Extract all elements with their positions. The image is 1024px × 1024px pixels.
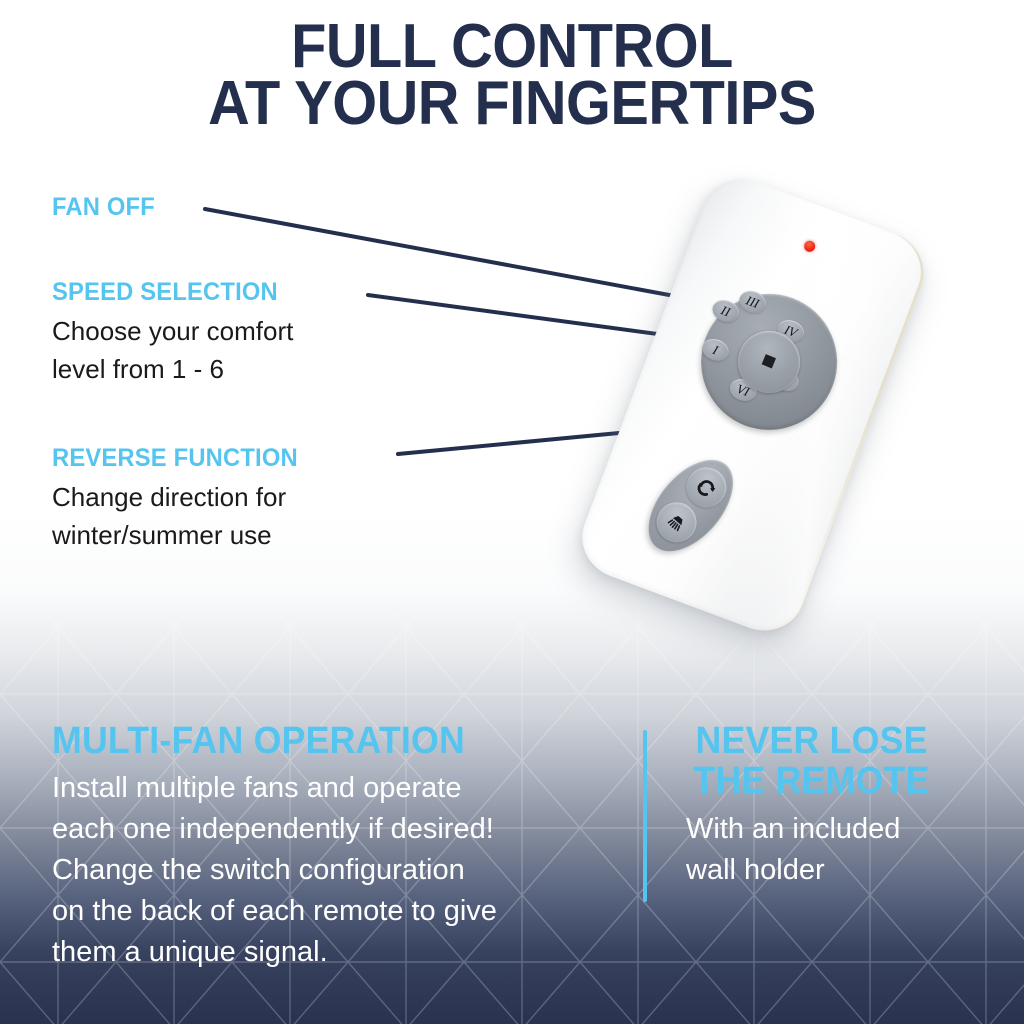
- speed-dial[interactable]: III IV V VI I II: [682, 274, 857, 449]
- panel-heading-multi-fan: MULTI-FAN OPERATION: [52, 722, 470, 762]
- speed-button-ii[interactable]: II: [709, 296, 742, 325]
- callout-body-line: level from 1 - 6: [52, 351, 293, 389]
- panel-body-line: Change the switch configuration: [52, 854, 465, 886]
- callout-body-line: winter/summer use: [52, 517, 311, 555]
- callout-reverse-function: REVERSE FUNCTION Change direction for wi…: [52, 444, 311, 554]
- panel-never-lose-the-remote: NEVER LOSE THE REMOTE With an included w…: [686, 722, 937, 891]
- stop-square-icon: [762, 354, 776, 368]
- reverse-light-button-cluster: [632, 444, 749, 566]
- speed-button-iii[interactable]: III: [736, 287, 769, 316]
- panel-body-line: wall holder: [686, 854, 825, 886]
- panel-body-line: With an included: [686, 813, 900, 845]
- callout-label-fan-off: FAN OFF: [52, 193, 155, 222]
- panel-body-line: them a unique signal.: [52, 936, 328, 968]
- panel-multi-fan-operation: MULTI-FAN OPERATION Install multiple fan…: [52, 722, 497, 973]
- speed-button-i[interactable]: I: [699, 335, 732, 364]
- callout-fan-off: FAN OFF: [52, 193, 160, 222]
- callout-label-reverse-function: REVERSE FUNCTION: [52, 444, 298, 473]
- panel-body-line: each one independently if desired!: [52, 813, 494, 845]
- panel-body-line: on the back of each remote to give: [52, 895, 497, 927]
- callout-speed-selection: SPEED SELECTION Choose your comfort leve…: [52, 278, 293, 388]
- callout-label-speed-selection: SPEED SELECTION: [52, 278, 281, 307]
- headline-line-2: AT YOUR FINGERTIPS: [36, 75, 988, 132]
- callout-body-line: Change direction for: [52, 479, 311, 517]
- panel-body-line: Install multiple fans and operate: [52, 772, 461, 804]
- remote-body: III IV V VI I II: [571, 168, 935, 643]
- reverse-arrow-icon: [691, 472, 722, 503]
- light-bulb-icon: [661, 507, 692, 538]
- red-led-icon: [803, 239, 817, 253]
- panel-heading-never-lose-line-2: THE REMOTE: [694, 760, 930, 802]
- page-title: FULL CONTROL AT YOUR FINGERTIPS: [36, 18, 988, 132]
- callout-body-line: Choose your comfort: [52, 313, 293, 351]
- remote-control-image: III IV V VI I II: [545, 175, 965, 675]
- panel-heading-never-lose-line-1: NEVER LOSE: [695, 720, 927, 762]
- infographic-page: FULL CONTROL AT YOUR FINGERTIPS FAN OFF …: [0, 0, 1024, 1024]
- column-divider: [643, 730, 647, 902]
